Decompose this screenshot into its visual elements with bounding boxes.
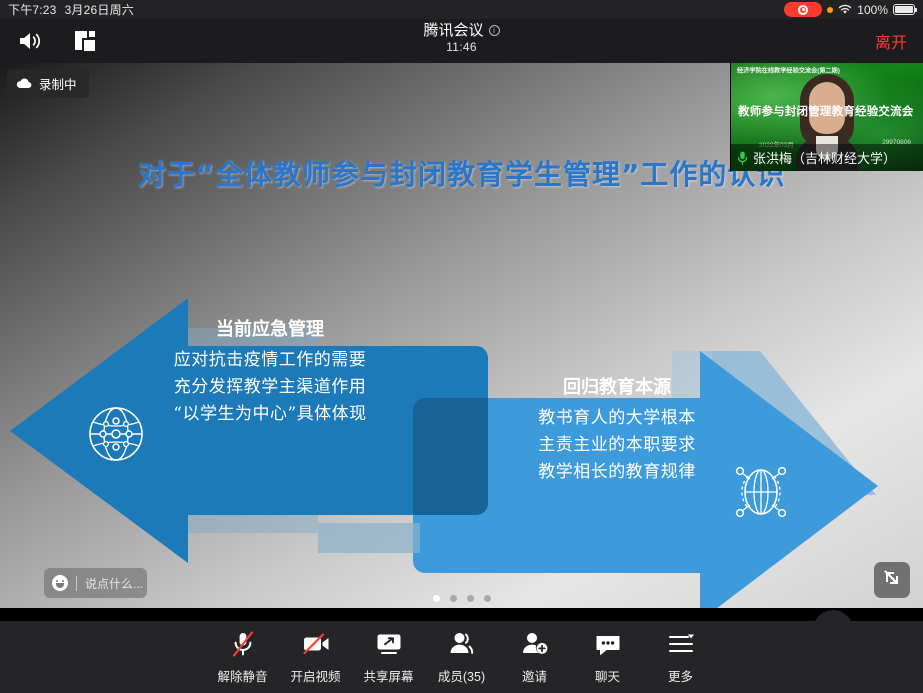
meeting-header: 腾讯会议 i 11:46 离开 — [0, 19, 923, 63]
toolbar-button-participants[interactable]: 成员(35) — [425, 629, 498, 685]
battery-icon — [893, 4, 915, 15]
toolbar-label-invite: 邀请 — [522, 666, 547, 685]
battery-percent-label: 100% — [857, 3, 888, 17]
annotate-button[interactable] — [874, 562, 910, 598]
slide-block-right-heading: 回归教育本源 — [502, 373, 732, 399]
wifi-icon — [838, 4, 852, 15]
page-dot-3[interactable] — [467, 595, 474, 602]
toolbar-button-share[interactable]: 共享屏幕 — [352, 629, 425, 685]
slide-block-right-line-2: 主责主业的本职要求 — [502, 432, 732, 459]
status-bar-right: 100% — [784, 2, 915, 17]
leave-meeting-button[interactable]: 离开 — [875, 19, 907, 63]
camera-off-icon — [301, 629, 331, 659]
slide-block-left: 当前应急管理 应对抗击疫情工作的需要 充分发挥教学主渠道作用 “以学生为中心”具… — [148, 315, 392, 428]
record-pill-icon — [784, 2, 822, 17]
meeting-elapsed-time: 11:46 — [423, 41, 499, 55]
page-dot-1[interactable] — [433, 595, 440, 602]
microphone-icon — [737, 151, 748, 165]
speaker-icon[interactable] — [14, 24, 48, 58]
page-title: 腾讯会议 — [423, 22, 483, 39]
toolbar-button-invite[interactable]: 邀请 — [498, 629, 571, 685]
participant-name-label: 张洪梅（吉林财经大学） — [753, 148, 896, 167]
slide-block-right: 回归教育本源 教书育人的大学根本 主责主业的本职要求 教学相长的教育规律 — [502, 373, 732, 486]
connected-globe-icon — [728, 459, 794, 525]
page-dot-4[interactable] — [484, 595, 491, 602]
header-center: 腾讯会议 i 11:46 — [423, 22, 499, 55]
meeting-title-row: 腾讯会议 i — [423, 22, 499, 39]
toolbar-label-mute: 解除静音 — [217, 666, 267, 685]
info-icon[interactable]: i — [489, 25, 500, 36]
slide-block-left-line-3: “以学生为中心”具体体现 — [148, 401, 392, 428]
tencent-meeting-app: 下午7:23 3月26日周六 100% — [0, 0, 923, 693]
header-left-icons — [14, 19, 102, 63]
invite-user-icon — [520, 629, 550, 659]
slide-block-left-heading: 当前应急管理 — [148, 315, 392, 341]
status-bar-time: 下午7:23 — [8, 1, 57, 18]
chat-input-placeholder[interactable]: 说点什么... — [85, 575, 143, 592]
toolbar-label-share: 共享屏幕 — [363, 666, 413, 685]
toolbar-items: 解除静音 开启视频 — [0, 621, 923, 693]
toolbar-surface: 解除静音 开启视频 — [0, 621, 923, 693]
chat-bubble-icon — [593, 629, 623, 659]
mic-muted-icon — [228, 629, 258, 659]
meeting-toolbar: 解除静音 开启视频 — [0, 608, 923, 693]
toolbar-label-chat: 聊天 — [595, 666, 620, 685]
toolbar-button-mute[interactable]: 解除静音 — [206, 629, 279, 685]
emoji-icon[interactable] — [52, 575, 68, 591]
slide-page-indicator[interactable] — [433, 595, 491, 602]
toolbar-button-chat[interactable]: 聊天 — [571, 629, 644, 685]
slide-block-right-line-1: 教书育人的大学根本 — [502, 405, 732, 432]
slide-block-right-line-3: 教学相长的教育规律 — [502, 459, 732, 486]
self-view-thumbnail[interactable]: 经济学院在线教学经验交流会(第二期) 教师参与封闭管理教育经验交流会 2022年… — [730, 63, 923, 171]
chat-divider — [76, 576, 77, 591]
toolbar-label-participants: 成员(35) — [438, 666, 485, 685]
shared-screen-stage[interactable]: 录制中 对于“全体教师参与封闭教育学生管理”工作的认识 — [0, 63, 923, 608]
page-dot-2[interactable] — [450, 595, 457, 602]
ios-status-bar: 下午7:23 3月26日周六 100% — [0, 0, 923, 19]
toolbar-label-more: 更多 — [668, 666, 693, 685]
status-bar-left: 下午7:23 3月26日周六 — [8, 1, 134, 18]
network-globe-icon — [87, 405, 145, 463]
recording-label: 录制中 — [39, 74, 77, 93]
focus-dot-icon — [827, 7, 833, 13]
recording-status-chip: 录制中 — [7, 69, 89, 98]
layout-switch-icon[interactable] — [68, 24, 102, 58]
cloud-icon — [16, 78, 32, 89]
participants-icon — [447, 629, 477, 659]
toolbar-button-more[interactable]: 更多 — [644, 629, 717, 685]
slide-block-left-line-2: 充分发挥教学主渠道作用 — [148, 374, 392, 401]
toolbar-button-video[interactable]: 开启视频 — [279, 629, 352, 685]
pencil-annotate-icon — [881, 567, 903, 594]
share-screen-icon — [374, 629, 404, 659]
toolbar-label-video: 开启视频 — [290, 666, 340, 685]
thumbnail-banner-text: 教师参与封闭管理教育经验交流会 — [738, 103, 919, 119]
status-bar-date: 3月26日周六 — [65, 1, 134, 18]
participant-name-badge: 张洪梅（吉林财经大学） — [731, 144, 923, 171]
slide-block-left-line-1: 应对抗击疫情工作的需要 — [148, 347, 392, 374]
more-menu-icon — [666, 629, 696, 659]
quick-chat-input[interactable]: 说点什么... — [44, 568, 147, 598]
